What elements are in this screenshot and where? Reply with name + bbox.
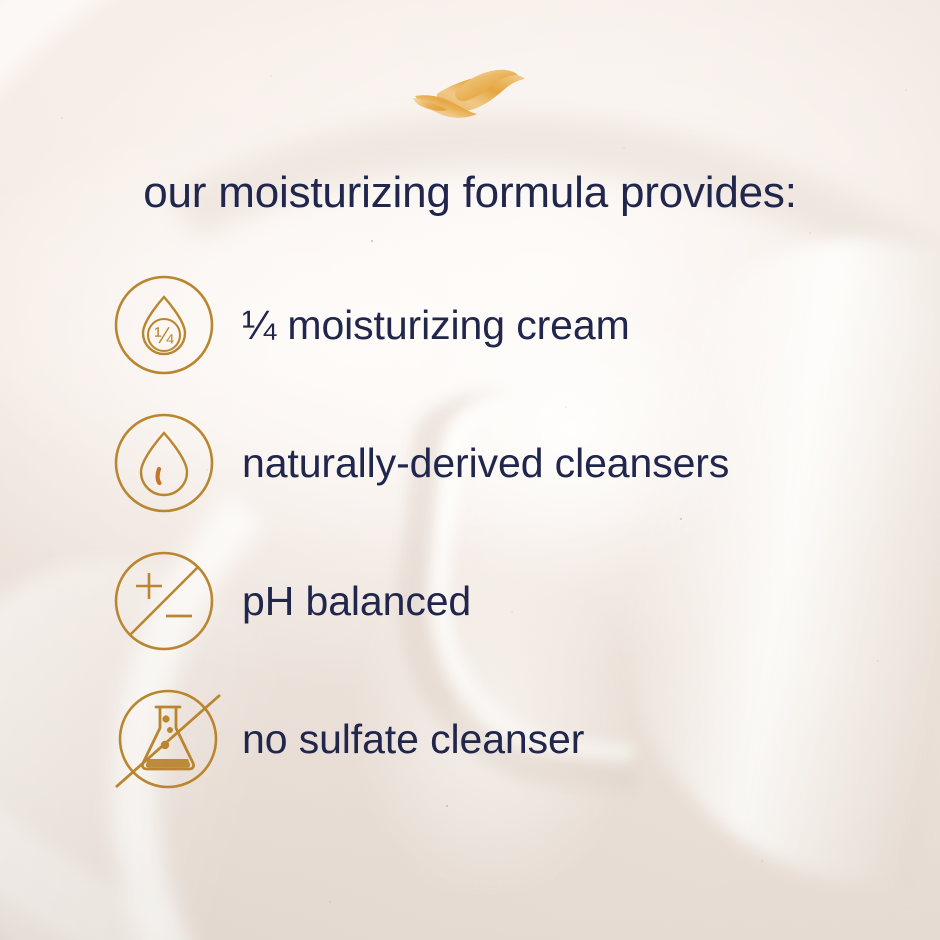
- benefit-icon-cell: [112, 411, 224, 515]
- quarter-fraction-label: ¼: [154, 322, 174, 348]
- list-item: pH balanced: [112, 532, 932, 670]
- benefit-label: naturally-derived cleansers: [242, 440, 729, 487]
- dove-benefits-poster: our moisturizing formula provides: ¼ ¼ m…: [0, 0, 940, 940]
- benefit-icon-cell: [112, 683, 224, 795]
- benefit-label: ¼ moisturizing cream: [242, 302, 630, 349]
- poster-content: our moisturizing formula provides: ¼ ¼ m…: [0, 0, 940, 940]
- no-sulfate-flask-crossed-icon: [112, 683, 224, 795]
- benefit-icon-cell: ¼: [112, 273, 224, 377]
- list-item: ¼ ¼ moisturizing cream: [112, 256, 932, 394]
- ph-balanced-plus-minus-icon: [112, 549, 216, 653]
- benefit-icon-cell: [112, 549, 224, 653]
- brand-logo: [0, 68, 940, 122]
- list-item: no sulfate cleanser: [112, 670, 932, 808]
- benefit-label: no sulfate cleanser: [242, 716, 584, 763]
- page-title: our moisturizing formula provides:: [0, 168, 940, 218]
- quarter-moisturizing-cream-droplet-icon: ¼: [112, 273, 216, 377]
- benefit-label: pH balanced: [242, 578, 471, 625]
- water-droplet-icon: [112, 411, 216, 515]
- benefits-list: ¼ ¼ moisturizing cream naturally-derived…: [112, 256, 932, 808]
- list-item: naturally-derived cleansers: [112, 394, 932, 532]
- dove-bird-logo-icon: [411, 68, 529, 122]
